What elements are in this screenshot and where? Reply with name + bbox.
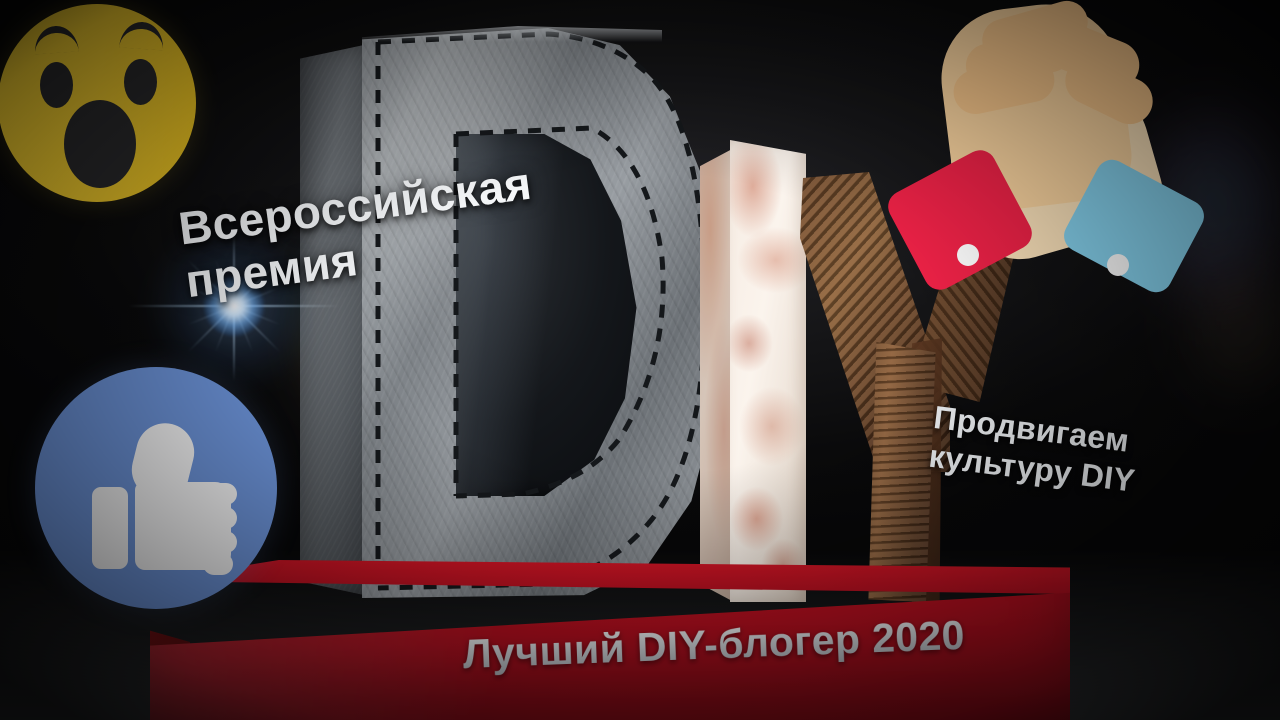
poster-canvas: Всероссийская премия Продвигаем культуру… — [0, 0, 1280, 720]
vignette-overlay — [0, 0, 1280, 720]
